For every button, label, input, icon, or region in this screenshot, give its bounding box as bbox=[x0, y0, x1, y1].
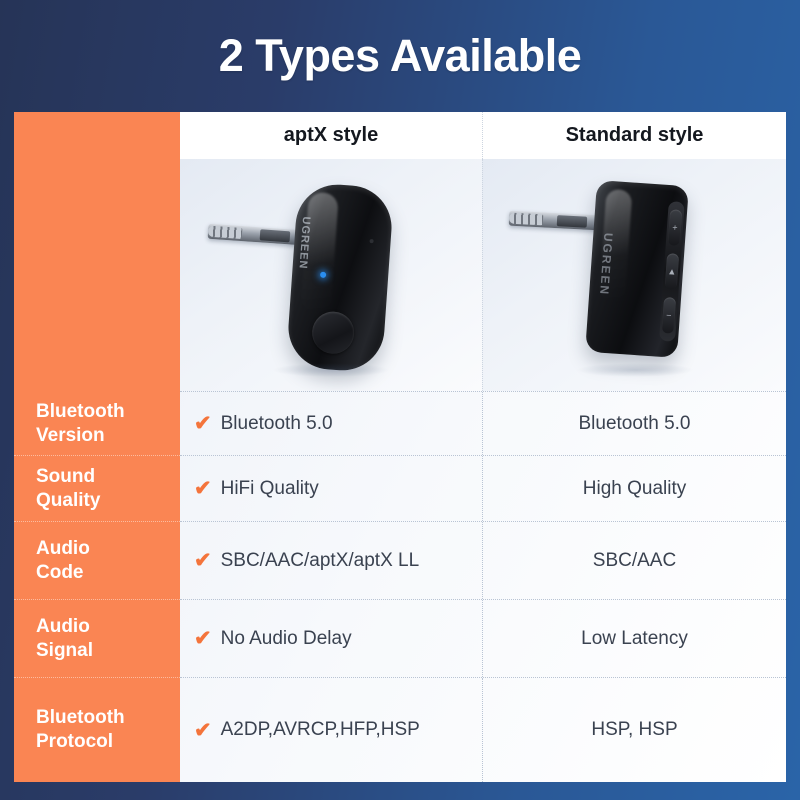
label-line-2: Code bbox=[36, 561, 180, 585]
cell-standard-sound-quality: High Quality bbox=[483, 456, 786, 521]
check-icon: ✔ bbox=[194, 413, 212, 434]
label-line-1: Sound bbox=[36, 465, 180, 489]
cell-value: SBC/AAC/aptX/aptX LL bbox=[221, 550, 420, 572]
label-line-1: Bluetooth bbox=[36, 400, 180, 424]
label-line-2: Protocol bbox=[36, 730, 180, 754]
jack-tip bbox=[208, 226, 243, 239]
jack-band bbox=[557, 215, 588, 228]
table-row: ✔ A2DP,AVRCP,HFP,HSP HSP, HSP bbox=[180, 678, 786, 782]
comparison-data-columns: aptX style Standard style UGREEN bbox=[180, 112, 786, 782]
product-image-standard: UGREEN + ▲ − bbox=[483, 159, 786, 391]
audio-jack-icon bbox=[509, 211, 602, 231]
cell-aptx-audio-signal: ✔ No Audio Delay bbox=[180, 600, 483, 677]
check-icon: ✔ bbox=[194, 550, 212, 571]
cell-standard-bluetooth-protocol: HSP, HSP bbox=[483, 678, 786, 782]
device-reflection bbox=[576, 363, 694, 377]
table-row: ✔ HiFi Quality High Quality bbox=[180, 456, 786, 522]
table-row: ✔ No Audio Delay Low Latency bbox=[180, 600, 786, 678]
standard-device-body: UGREEN + ▲ − bbox=[585, 180, 689, 358]
table-header-row: aptX style Standard style bbox=[180, 112, 786, 159]
cell-value: HiFi Quality bbox=[221, 478, 319, 500]
product-image-aptx: UGREEN bbox=[180, 159, 483, 391]
label-cell-sound-quality: Sound Quality bbox=[14, 456, 180, 522]
cell-standard-audio-code: SBC/AAC bbox=[483, 522, 786, 599]
label-line-2: Version bbox=[36, 424, 180, 448]
jack-band bbox=[260, 229, 291, 242]
cell-value: A2DP,AVRCP,HFP,HSP bbox=[221, 719, 420, 741]
table-row: ✔ SBC/AAC/aptX/aptX LL SBC/AAC bbox=[180, 522, 786, 600]
cell-aptx-bluetooth-version: ✔ Bluetooth 5.0 bbox=[180, 392, 483, 455]
cell-aptx-bluetooth-protocol: ✔ A2DP,AVRCP,HFP,HSP bbox=[180, 678, 483, 782]
play-button: ▲ bbox=[665, 253, 679, 290]
label-line-1: Audio bbox=[36, 537, 180, 561]
device-reflection bbox=[272, 363, 390, 377]
label-cell-audio-code: Audio Code bbox=[14, 522, 180, 600]
label-cell-audio-signal: Audio Signal bbox=[14, 600, 180, 678]
banner: 2 Types Available bbox=[0, 0, 800, 112]
label-cell-bluetooth-version: Bluetooth Version bbox=[14, 392, 180, 456]
check-icon: ✔ bbox=[194, 478, 212, 499]
column-header-aptx: aptX style bbox=[180, 112, 483, 159]
product-image-row: UGREEN UGREEN bbox=[180, 159, 786, 392]
multifunction-button bbox=[311, 310, 356, 355]
label-line-1: Bluetooth bbox=[36, 706, 180, 730]
label-cell-header-spacer bbox=[14, 112, 180, 159]
product-comparison-poster: 2 Types Available Bluetooth Version Soun… bbox=[0, 0, 800, 800]
aptx-device-body: UGREEN bbox=[286, 182, 395, 373]
microphone-icon bbox=[369, 239, 373, 243]
column-header-standard: Standard style bbox=[483, 112, 786, 159]
page-title: 2 Types Available bbox=[219, 30, 582, 82]
cell-aptx-audio-code: ✔ SBC/AAC/aptX/aptX LL bbox=[180, 522, 483, 599]
cell-standard-audio-signal: Low Latency bbox=[483, 600, 786, 677]
check-icon: ✔ bbox=[194, 628, 212, 649]
cell-standard-bluetooth-version: Bluetooth 5.0 bbox=[483, 392, 786, 455]
cell-aptx-sound-quality: ✔ HiFi Quality bbox=[180, 456, 483, 521]
audio-jack-icon bbox=[208, 224, 305, 246]
volume-up-button: + bbox=[668, 209, 682, 246]
table-row: ✔ Bluetooth 5.0 Bluetooth 5.0 bbox=[180, 392, 786, 456]
comparison-table: Bluetooth Version Sound Quality Audio Co… bbox=[14, 112, 786, 782]
label-cell-bluetooth-protocol: Bluetooth Protocol bbox=[14, 678, 180, 782]
cell-value: No Audio Delay bbox=[221, 628, 352, 650]
check-icon: ✔ bbox=[194, 720, 212, 741]
label-cell-image-spacer bbox=[14, 159, 180, 392]
volume-down-button: − bbox=[662, 297, 676, 334]
cell-value: Bluetooth 5.0 bbox=[221, 413, 333, 435]
label-line-1: Audio bbox=[36, 615, 180, 639]
feature-label-column: Bluetooth Version Sound Quality Audio Co… bbox=[14, 112, 180, 782]
label-line-2: Signal bbox=[36, 639, 180, 663]
jack-tip bbox=[509, 213, 544, 226]
label-line-2: Quality bbox=[36, 489, 180, 513]
